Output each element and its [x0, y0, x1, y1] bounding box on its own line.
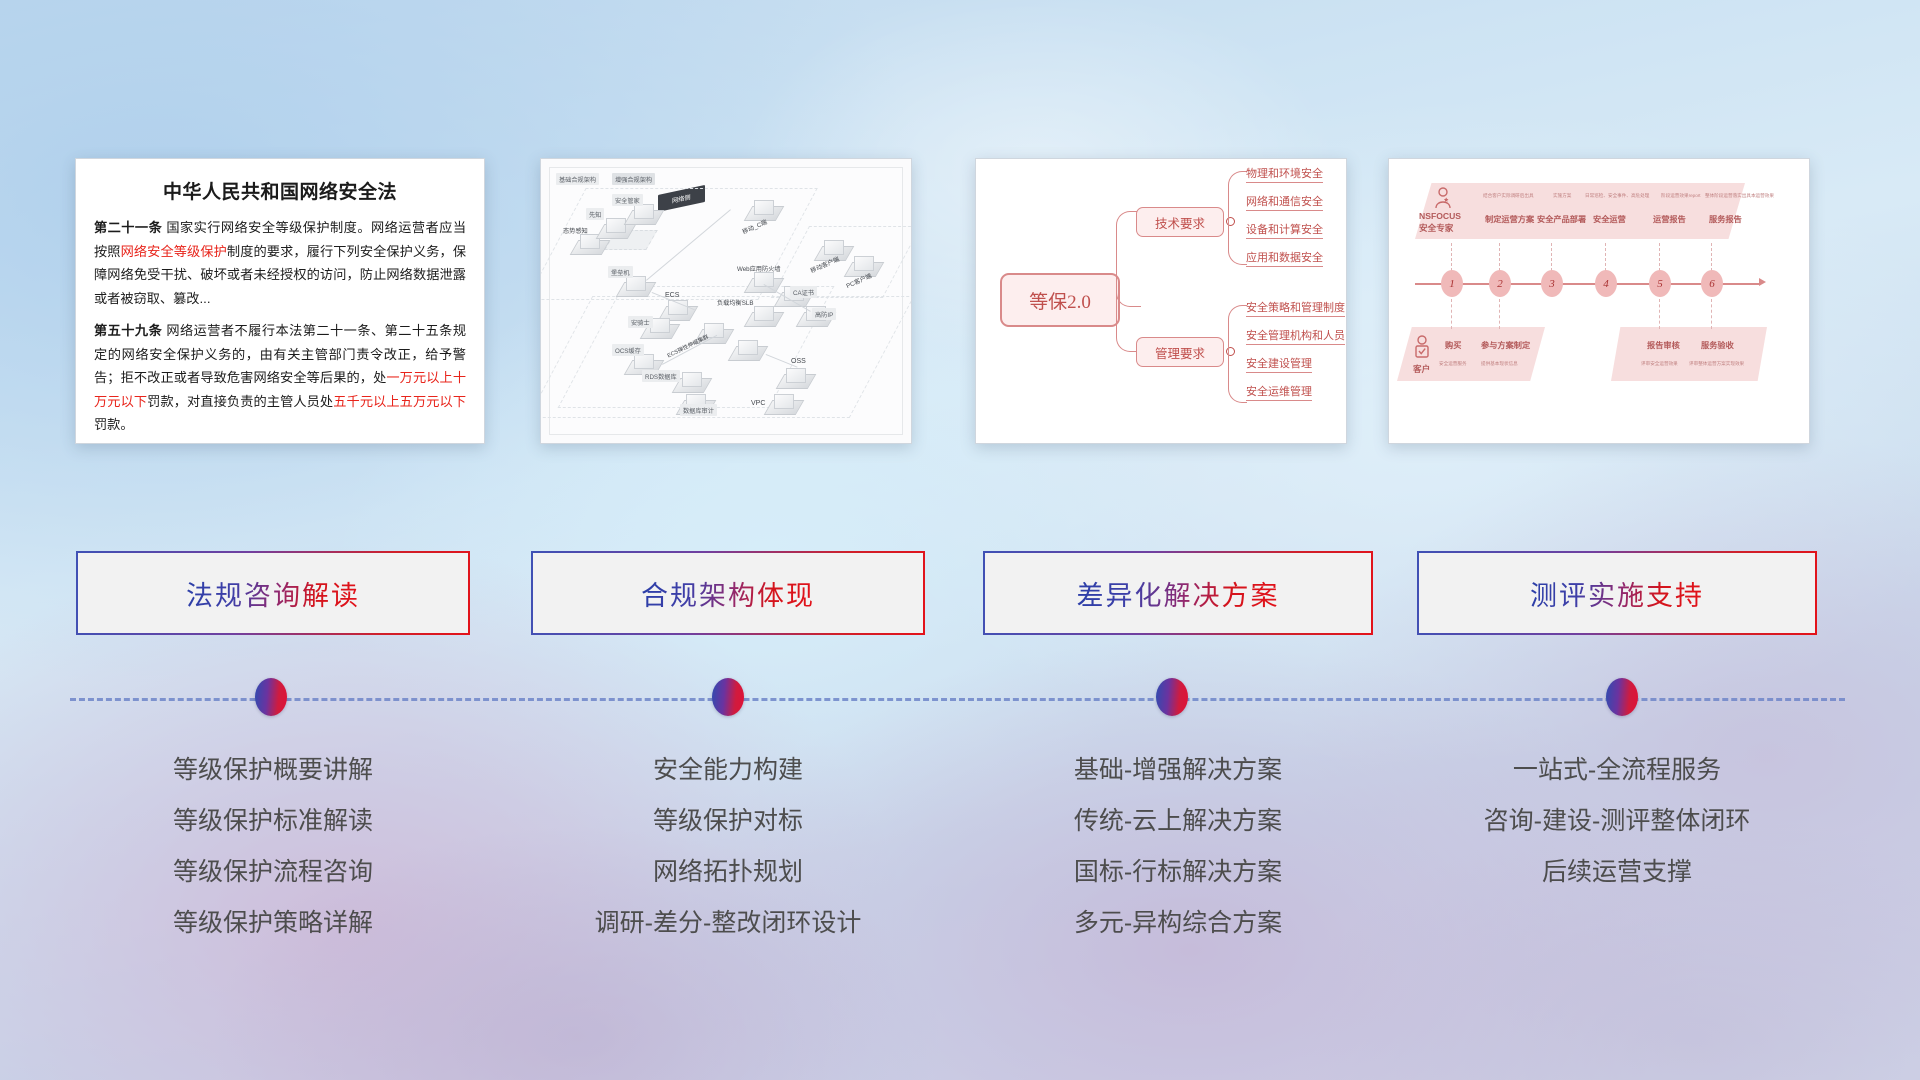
- headline-label-4: 测评实施支持: [1530, 574, 1704, 613]
- list-item: 调研-差分-整改闭环设计: [531, 898, 925, 949]
- list-item: 等级保护策略详解: [76, 898, 470, 949]
- list-item: 等级保护流程咨询: [76, 847, 470, 898]
- headline-label-3: 差异化解决方案: [1077, 574, 1280, 613]
- list-item: 传统-云上解决方案: [983, 796, 1373, 847]
- timeline-dot-1[interactable]: [255, 678, 287, 716]
- list-item: 咨询-建设-测评整体闭环: [1417, 796, 1817, 847]
- list-item: 一站式-全流程服务: [1417, 745, 1817, 796]
- headline-box-3[interactable]: 差异化解决方案: [983, 551, 1373, 635]
- headline-box-1-inner: 法规咨询解读: [78, 553, 468, 633]
- list-item: 等级保护标准解读: [76, 796, 470, 847]
- list-item: 基础-增强解决方案: [983, 745, 1373, 796]
- headline-label-1: 法规咨询解读: [186, 574, 360, 613]
- list-item: 安全能力构建: [531, 745, 925, 796]
- headline-box-2[interactable]: 合规架构体现: [531, 551, 925, 635]
- bullet-column-4: 一站式-全流程服务 咨询-建设-测评整体闭环 后续运营支撑: [1417, 745, 1817, 898]
- list-item: 后续运营支撑: [1417, 847, 1817, 898]
- headline-box-4[interactable]: 测评实施支持: [1417, 551, 1817, 635]
- list-item: 多元-异构综合方案: [983, 898, 1373, 949]
- bullet-column-1: 等级保护概要讲解 等级保护标准解读 等级保护流程咨询 等级保护策略详解: [76, 745, 470, 949]
- timeline-dot-2[interactable]: [712, 678, 744, 716]
- bullet-column-3: 基础-增强解决方案 传统-云上解决方案 国标-行标解决方案 多元-异构综合方案: [983, 745, 1373, 949]
- list-item: 等级保护对标: [531, 796, 925, 847]
- list-item: 等级保护概要讲解: [76, 745, 470, 796]
- timeline-dot-3[interactable]: [1156, 678, 1188, 716]
- headline-box-3-inner: 差异化解决方案: [985, 553, 1371, 633]
- headline-box-4-inner: 测评实施支持: [1419, 553, 1815, 633]
- headline-box-2-inner: 合规架构体现: [533, 553, 923, 633]
- bullet-column-2: 安全能力构建 等级保护对标 网络拓扑规划 调研-差分-整改闭环设计: [531, 745, 925, 949]
- headline-box-1[interactable]: 法规咨询解读: [76, 551, 470, 635]
- timeline-dot-4[interactable]: [1606, 678, 1638, 716]
- timeline-dashed-line: [70, 698, 1845, 701]
- headline-label-2: 合规架构体现: [641, 574, 815, 613]
- list-item: 网络拓扑规划: [531, 847, 925, 898]
- list-item: 国标-行标解决方案: [983, 847, 1373, 898]
